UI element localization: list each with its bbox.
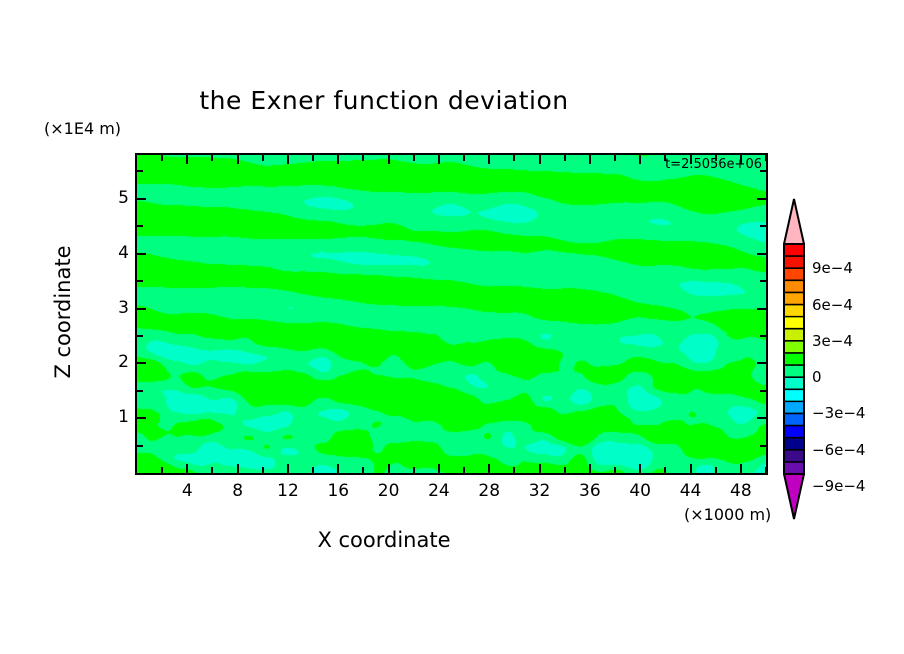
- colorbar-band: [784, 365, 804, 378]
- x-axis-tick: [690, 464, 692, 473]
- x-axis-tick: [765, 155, 767, 161]
- y-axis-tick: [137, 253, 146, 255]
- x-axis-tick-label: 16: [318, 481, 358, 501]
- colorbar-tick-label: 6e−4: [812, 296, 853, 314]
- x-axis-tick: [388, 464, 390, 473]
- x-axis-tick-label: 28: [469, 481, 509, 501]
- x-axis-tick: [287, 155, 289, 164]
- page-title: the Exner function deviation: [0, 86, 768, 115]
- colorbar-tick-label: −9e−4: [812, 477, 865, 495]
- x-axis-tick: [211, 155, 213, 161]
- colorbar-band: [784, 329, 804, 342]
- x-axis-tick-label: 48: [721, 481, 761, 501]
- timestamp-label: t=2.5056e+06: [665, 157, 762, 172]
- x-axis-tick: [539, 464, 541, 473]
- contour-plot-area: t=2.5056e+06: [135, 153, 768, 475]
- x-axis-tick: [614, 467, 616, 473]
- y-axis-tick: [760, 390, 766, 392]
- y-axis-tick: [757, 198, 766, 200]
- colorbar-band: [784, 401, 804, 414]
- x-axis-tick: [513, 467, 515, 473]
- x-axis-tick: [362, 155, 364, 161]
- colorbar-tick-label: 3e−4: [812, 332, 853, 350]
- y-axis-unit-label: (×1E4 m): [44, 119, 121, 138]
- colorbar-tick-label: −3e−4: [812, 404, 865, 422]
- x-axis-tick-label: 44: [671, 481, 711, 501]
- x-axis-tick: [312, 155, 314, 161]
- colorbar-band: [784, 426, 804, 439]
- x-axis-tick: [438, 155, 440, 164]
- x-axis-tick: [639, 155, 641, 164]
- x-axis-tick: [186, 155, 188, 164]
- colorbar-band: [784, 462, 804, 475]
- x-axis-tick: [337, 464, 339, 473]
- y-axis-title: Z coordinate: [51, 222, 75, 402]
- x-axis-tick-label: 32: [520, 481, 560, 501]
- colorbar-band: [784, 353, 804, 366]
- colorbar-band: [784, 450, 804, 463]
- colorbar-band: [784, 377, 804, 390]
- x-axis-tick: [564, 467, 566, 473]
- x-axis-tick: [262, 467, 264, 473]
- x-axis-tick: [211, 467, 213, 473]
- y-axis-tick-label: 3: [105, 298, 129, 318]
- colorbar-band: [784, 305, 804, 318]
- x-axis-tick: [715, 467, 717, 473]
- x-axis-tick: [237, 464, 239, 473]
- x-axis-tick: [513, 155, 515, 161]
- y-axis-tick: [757, 308, 766, 310]
- x-axis-tick: [765, 467, 767, 473]
- y-axis-tick-label: 2: [105, 352, 129, 372]
- x-axis-tick: [488, 155, 490, 164]
- y-axis-tick: [137, 335, 143, 337]
- x-axis-tick: [362, 467, 364, 473]
- y-axis-tick: [757, 417, 766, 419]
- colorbar-cap-top: [784, 199, 804, 244]
- colorbar-band: [784, 413, 804, 426]
- x-axis-tick: [664, 467, 666, 473]
- y-axis-tick-label: 1: [105, 407, 129, 427]
- x-axis-tick-label: 12: [268, 481, 308, 501]
- contour-field-canvas: [137, 155, 766, 473]
- x-axis-tick: [186, 464, 188, 473]
- colorbar-band: [784, 438, 804, 451]
- y-axis-tick: [757, 362, 766, 364]
- y-axis-tick: [137, 225, 143, 227]
- x-axis-tick: [388, 155, 390, 164]
- colorbar-band: [784, 268, 804, 281]
- x-axis-tick: [337, 155, 339, 164]
- colorbar-band: [784, 256, 804, 269]
- y-axis-tick: [137, 308, 146, 310]
- colorbar-band: [784, 389, 804, 402]
- x-axis-tick: [639, 464, 641, 473]
- y-axis-tick: [137, 417, 146, 419]
- x-axis-tick-label: 8: [218, 481, 258, 501]
- x-axis-tick: [161, 467, 163, 473]
- x-axis-tick: [237, 155, 239, 164]
- y-axis-tick: [760, 225, 766, 227]
- y-axis-tick: [760, 335, 766, 337]
- x-axis-tick: [463, 155, 465, 161]
- x-axis-tick-label: 40: [620, 481, 660, 501]
- y-axis-tick: [757, 253, 766, 255]
- x-axis-tick: [161, 155, 163, 161]
- x-axis-tick: [564, 155, 566, 161]
- x-axis-tick-label: 36: [570, 481, 610, 501]
- y-axis-tick: [137, 445, 143, 447]
- colorbar-tick-label: −6e−4: [812, 441, 865, 459]
- x-axis-tick: [589, 464, 591, 473]
- y-axis-tick: [760, 280, 766, 282]
- x-axis-tick: [488, 464, 490, 473]
- y-axis-tick: [137, 170, 143, 172]
- colorbar-band: [784, 341, 804, 354]
- y-axis-tick: [137, 390, 143, 392]
- y-axis-tick: [137, 198, 146, 200]
- x-axis-tick: [413, 155, 415, 161]
- x-axis-tick: [413, 467, 415, 473]
- x-axis-tick: [312, 467, 314, 473]
- y-axis-tick-label: 5: [105, 188, 129, 208]
- x-axis-tick-label: 20: [369, 481, 409, 501]
- x-axis-tick-label: 4: [167, 481, 207, 501]
- colorbar-graphic: [783, 198, 805, 520]
- x-axis-tick: [463, 467, 465, 473]
- colorbar: [783, 198, 805, 520]
- x-axis-tick: [740, 464, 742, 473]
- colorbar-tick-label: 0: [812, 368, 822, 386]
- colorbar-tick-label: 9e−4: [812, 259, 853, 277]
- x-axis-unit-label: (×1000 m): [684, 505, 771, 524]
- x-axis-tick: [262, 155, 264, 161]
- colorbar-cap-bottom: [784, 474, 804, 519]
- x-axis-title: X coordinate: [0, 528, 768, 552]
- x-axis-tick: [539, 155, 541, 164]
- y-axis-tick: [760, 445, 766, 447]
- x-axis-tick: [287, 464, 289, 473]
- x-axis-tick: [614, 155, 616, 161]
- colorbar-band: [784, 244, 804, 257]
- y-axis-tick: [137, 362, 146, 364]
- x-axis-tick: [589, 155, 591, 164]
- y-axis-tick-label: 4: [105, 243, 129, 263]
- x-axis-tick: [438, 464, 440, 473]
- colorbar-band: [784, 292, 804, 305]
- y-axis-tick: [137, 280, 143, 282]
- x-axis-tick-label: 24: [419, 481, 459, 501]
- colorbar-band: [784, 280, 804, 293]
- colorbar-band: [784, 317, 804, 330]
